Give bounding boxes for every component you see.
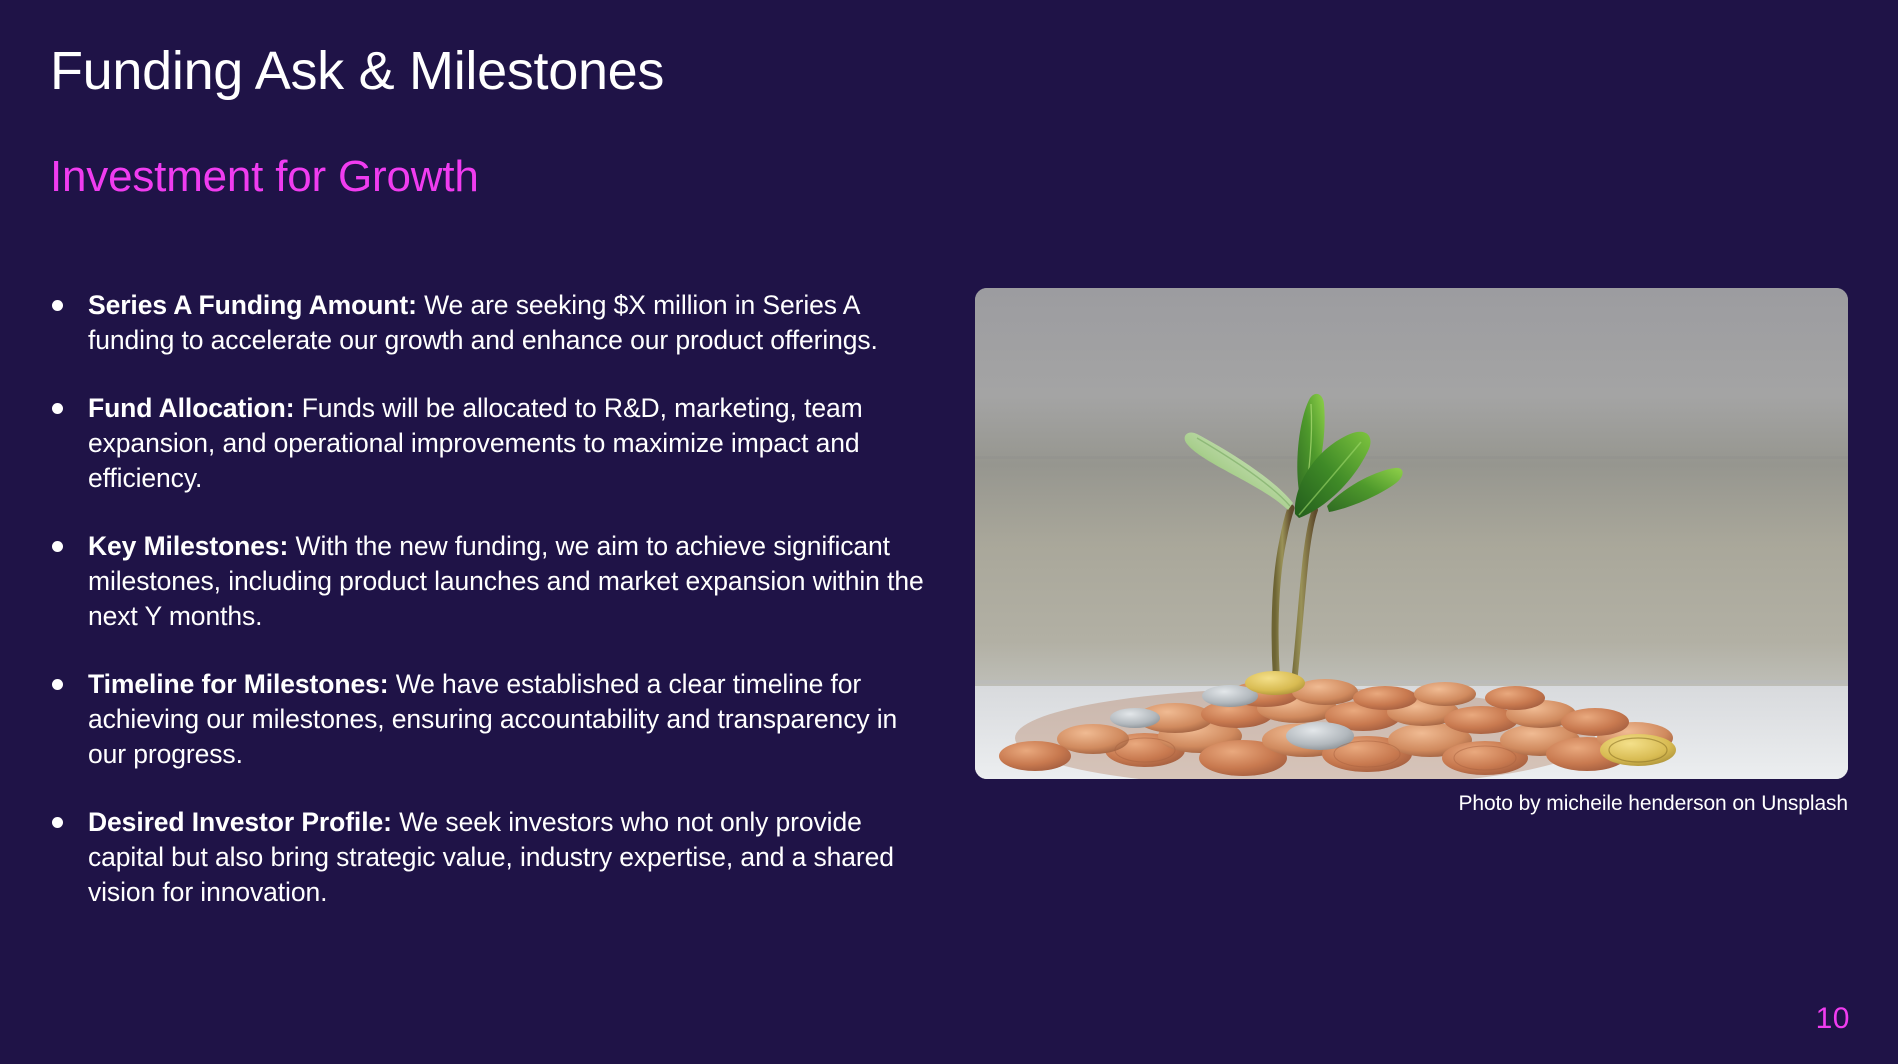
- bullet-text: Fund Allocation: Funds will be allocated…: [88, 391, 926, 496]
- page-subtitle: Investment for Growth: [50, 152, 479, 202]
- list-item: Key Milestones: With the new funding, we…: [46, 529, 926, 634]
- list-item: Series A Funding Amount: We are seeking …: [46, 288, 926, 358]
- bullet-lead-label: Desired Investor Profile:: [88, 807, 392, 837]
- bullet-text: Timeline for Milestones: We have establi…: [88, 667, 926, 772]
- list-item: Timeline for Milestones: We have establi…: [46, 667, 926, 772]
- photo-illustration: [975, 288, 1848, 779]
- photo-credit-caption: Photo by micheile henderson on Unsplash: [975, 792, 1848, 816]
- list-item: Desired Investor Profile: We seek invest…: [46, 805, 926, 910]
- bullet-lead-label: Series A Funding Amount:: [88, 290, 417, 320]
- bullet-lead-label: Key Milestones:: [88, 531, 288, 561]
- bullet-text: Key Milestones: With the new funding, we…: [88, 529, 926, 634]
- bullet-dot-icon: [52, 679, 63, 690]
- bullet-text: Desired Investor Profile: We seek invest…: [88, 805, 926, 910]
- bullet-lead-label: Fund Allocation:: [88, 393, 294, 423]
- slide-root: Funding Ask & Milestones Investment for …: [0, 0, 1898, 1064]
- bullet-dot-icon: [52, 817, 63, 828]
- bullet-text: Series A Funding Amount: We are seeking …: [88, 288, 926, 358]
- bullet-list: Series A Funding Amount: We are seeking …: [46, 288, 926, 910]
- page-title: Funding Ask & Milestones: [50, 40, 664, 102]
- bullet-dot-icon: [52, 541, 63, 552]
- list-item: Fund Allocation: Funds will be allocated…: [46, 391, 926, 496]
- bullet-dot-icon: [52, 300, 63, 311]
- bullet-lead-label: Timeline for Milestones:: [88, 669, 388, 699]
- bullet-dot-icon: [52, 403, 63, 414]
- growth-photo: [975, 288, 1848, 779]
- page-number: 10: [1816, 1002, 1850, 1036]
